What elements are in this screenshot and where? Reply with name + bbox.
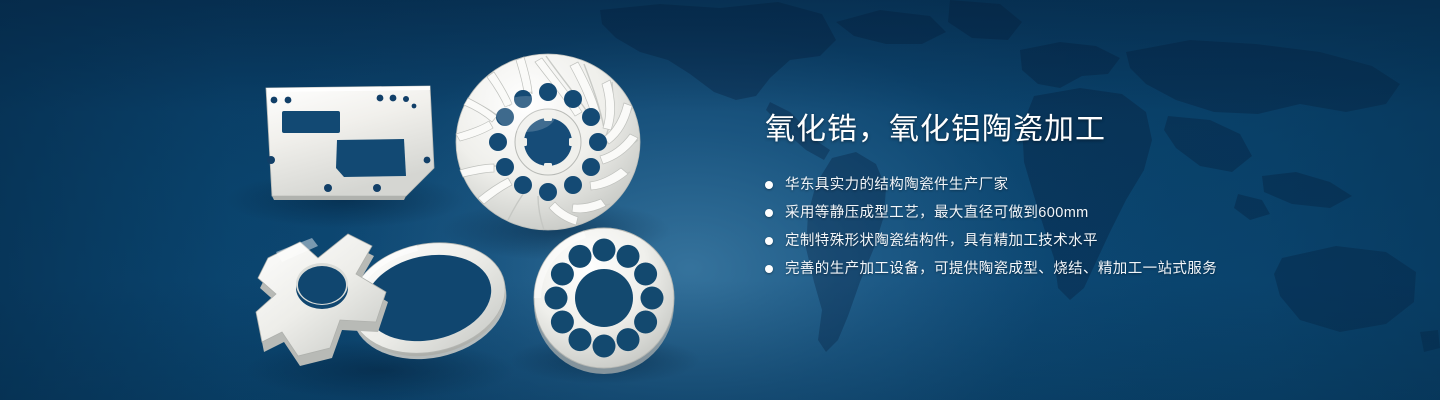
list-item: 华东具实力的结构陶瓷件生产厂家	[765, 173, 1385, 196]
ceramic-hole-ring	[534, 228, 674, 374]
bullet-dot-icon	[765, 209, 773, 217]
list-item-label: 华东具实力的结构陶瓷件生产厂家	[785, 175, 1009, 195]
list-item: 采用等静压成型工艺，最大直径可做到600mm	[765, 201, 1385, 224]
ceramic-mounting-plate	[266, 86, 434, 200]
feature-list: 华东具实力的结构陶瓷件生产厂家 采用等静压成型工艺，最大直径可做到600mm 定…	[765, 173, 1385, 280]
list-item-label: 采用等静压成型工艺，最大直径可做到600mm	[785, 203, 1089, 223]
product-photo-cluster	[0, 0, 760, 400]
banner-copy: 氧化锆，氧化铝陶瓷加工 华东具实力的结构陶瓷件生产厂家 采用等静压成型工艺，最大…	[765, 112, 1385, 285]
page-title: 氧化锆，氧化铝陶瓷加工	[765, 112, 1385, 148]
hero-banner: 氧化锆，氧化铝陶瓷加工 华东具实力的结构陶瓷件生产厂家 采用等静压成型工艺，最大…	[0, 0, 1440, 400]
bullet-dot-icon	[765, 181, 773, 189]
list-item: 完善的生产加工设备，可提供陶瓷成型、烧结、精加工一站式服务	[765, 257, 1385, 280]
list-item: 定制特殊形状陶瓷结构件，具有精加工技术水平	[765, 229, 1385, 252]
list-item-label: 定制特殊形状陶瓷结构件，具有精加工技术水平	[785, 231, 1098, 251]
bullet-dot-icon	[765, 265, 773, 273]
bullet-dot-icon	[765, 237, 773, 245]
list-item-label: 完善的生产加工设备，可提供陶瓷成型、烧结、精加工一站式服务	[785, 259, 1217, 279]
ceramic-impeller	[456, 54, 640, 230]
